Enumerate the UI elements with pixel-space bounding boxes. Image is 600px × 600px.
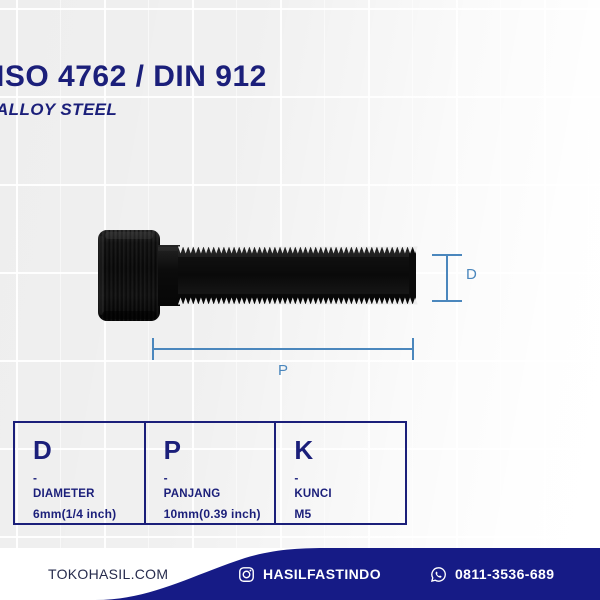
spec-cell-key-size: K - KUNCI M5 xyxy=(274,423,405,523)
spec-value: M5 xyxy=(294,508,405,520)
spec-name: KUNCI xyxy=(294,489,405,501)
footer-whatsapp-number: 0811-3536-689 xyxy=(455,566,554,582)
length-dimension-marker xyxy=(152,338,414,360)
diameter-stem xyxy=(446,256,448,300)
length-cap-right xyxy=(412,338,414,360)
socket-head-cap-screw-illustration xyxy=(96,228,421,323)
specification-table: D - DIAMETER 6mm(1/4 inch) P - PANJANG 1… xyxy=(13,421,407,525)
length-line xyxy=(152,348,414,350)
diameter-cap-bottom xyxy=(432,300,462,302)
spec-dash: - xyxy=(294,472,405,484)
spec-dash: - xyxy=(33,472,144,484)
spec-dash: - xyxy=(164,472,275,484)
page-title: ISO 4762 / DIN 912 xyxy=(0,62,267,92)
footer-website[interactable]: TOKOHASIL.COM xyxy=(48,548,168,600)
footer-instagram-handle: HASILFASTINDO xyxy=(263,566,381,582)
whatsapp-icon xyxy=(430,566,447,583)
page-subtitle: ALLOY STEEL xyxy=(0,101,267,118)
length-dimension-label: P xyxy=(152,362,414,379)
spec-value: 6mm(1/4 inch) xyxy=(33,508,144,520)
bolt-head xyxy=(98,230,160,321)
spec-key: P xyxy=(164,437,275,463)
spec-name: PANJANG xyxy=(164,489,275,501)
footer-bar: TOKOHASIL.COM HASILFASTINDO 0811-3536-68… xyxy=(0,548,600,600)
product-spec-image: ISO 4762 / DIN 912 ALLOY STEEL xyxy=(0,0,600,600)
bolt-tip xyxy=(409,249,416,302)
header-block: ISO 4762 / DIN 912 ALLOY STEEL xyxy=(0,62,267,118)
spec-value: 10mm(0.39 inch) xyxy=(164,508,275,520)
spec-name: DIAMETER xyxy=(33,489,144,501)
spec-cell-length: P - PANJANG 10mm(0.39 inch) xyxy=(144,423,275,523)
bolt-neck xyxy=(158,245,180,306)
instagram-icon xyxy=(238,566,255,583)
diameter-dimension-marker xyxy=(432,254,462,302)
footer-whatsapp[interactable]: 0811-3536-689 xyxy=(430,548,554,600)
spec-key: K xyxy=(294,437,405,463)
footer-website-label: TOKOHASIL.COM xyxy=(48,566,168,582)
spec-cell-diameter: D - DIAMETER 6mm(1/4 inch) xyxy=(15,423,144,523)
footer-instagram[interactable]: HASILFASTINDO xyxy=(238,548,381,600)
spec-key: D xyxy=(33,437,144,463)
diameter-dimension-label: D xyxy=(466,266,477,283)
